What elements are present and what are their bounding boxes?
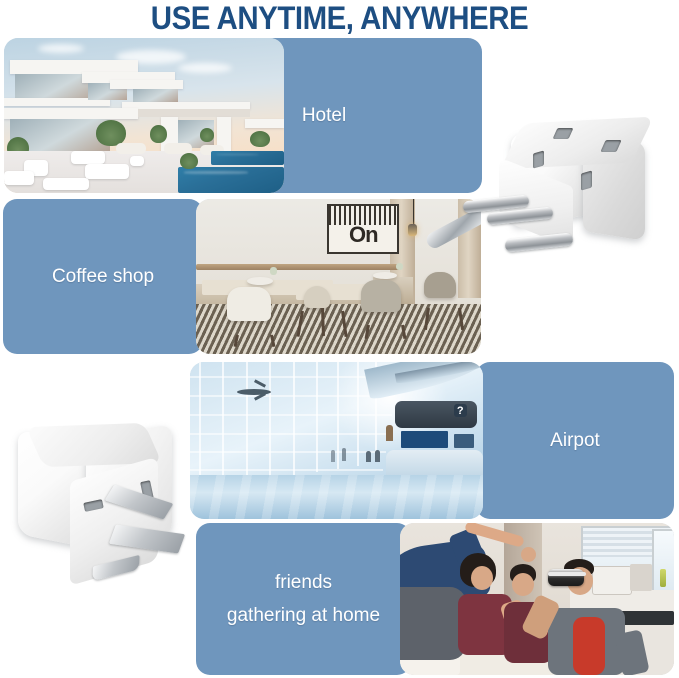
cafe-chair <box>304 286 330 308</box>
scene-label-airport: Airpot <box>550 424 600 457</box>
scene-label-panel-coffee-shop: Coffee shop <box>3 199 203 354</box>
scene-row-coffee-shop: Coffee shop On <box>3 199 481 354</box>
scene-label-hotel: Hotel <box>302 99 346 132</box>
coffee-machine <box>592 566 632 595</box>
scene-label-panel-friends-home: friends gathering at home <box>196 523 411 675</box>
scene-photo-hotel <box>4 38 284 193</box>
infographic-root: USE ANYTIME, ANYWHERE Hotel <box>0 0 679 678</box>
travel-adapter-flat-blade <box>8 425 208 625</box>
scene-photo-airport: ? <box>190 362 483 519</box>
cafe-chair <box>361 280 401 312</box>
travel-adapter-round-pin <box>455 110 665 300</box>
scene-label-panel-airport: Airpot <box>476 362 674 519</box>
power-pin <box>505 232 574 252</box>
cafe-chair <box>424 272 456 298</box>
socket-slot <box>533 150 544 168</box>
cafe-poster: On <box>327 204 399 255</box>
scene-label-friends-line2: gathering at home <box>227 599 380 632</box>
scene-photo-friends-home <box>400 523 674 675</box>
scene-label-friends-line1: friends <box>275 566 332 599</box>
scene-row-friends-home: friends gathering at home <box>196 523 674 675</box>
socket-slot <box>581 170 592 190</box>
cafe-chair <box>227 287 271 321</box>
scene-row-airport: Airpot <box>190 362 674 519</box>
information-sign: ? <box>454 404 467 417</box>
scene-row-hotel: Hotel <box>4 38 482 193</box>
scene-label-coffee-shop: Coffee shop <box>52 260 154 293</box>
cafe-poster-text: On <box>349 222 378 248</box>
page-title: USE ANYTIME, ANYWHERE <box>27 0 652 36</box>
scene-photo-coffee-shop: On <box>196 199 481 354</box>
